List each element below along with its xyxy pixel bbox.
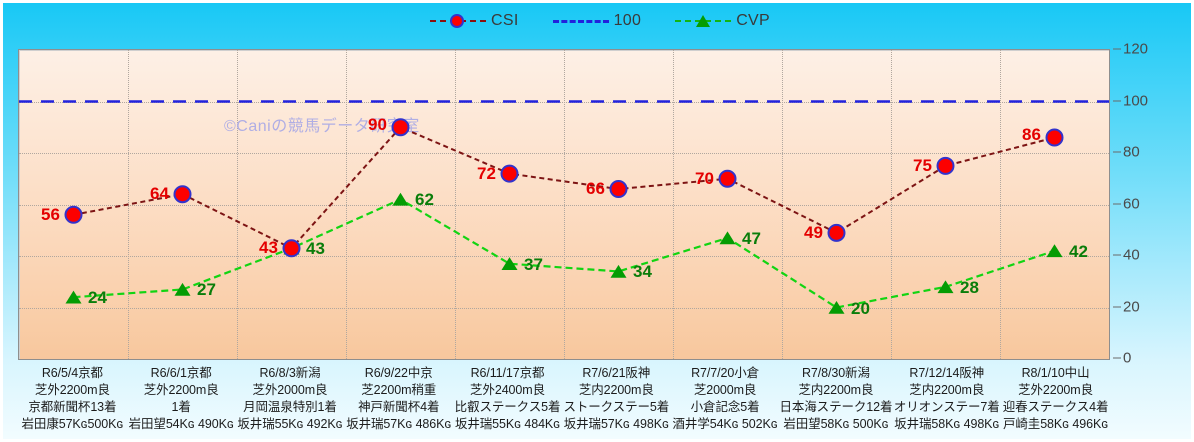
x-axis: R6/5/4京都芝外2200m良京都新聞杯13着岩田康57Kɢ500KɢR6/6… xyxy=(18,365,1110,441)
y-axis-tick-mark xyxy=(1113,358,1121,359)
x-axis-label-line: R6/8/3新潟 xyxy=(236,365,345,382)
y-axis-tick-mark xyxy=(1113,306,1121,307)
cvp-value-label: 24 xyxy=(88,288,107,308)
csi-value-label: 70 xyxy=(695,169,714,189)
legend-swatch-csi xyxy=(430,13,486,29)
x-axis-label-line: 芝2200m稍重 xyxy=(344,382,453,399)
x-axis-label-line: 京都新聞杯13着 xyxy=(18,399,127,416)
x-axis-label-line: R6/6/1京都 xyxy=(127,365,236,382)
x-axis-tick-label: R7/6/21阪神芝内2200m良ストークステー5着坂井瑞57Kɢ 498Kɢ xyxy=(562,365,671,441)
x-axis-label-line: 芝外2200m良 xyxy=(127,382,236,399)
csi-value-label: 90 xyxy=(368,115,387,135)
legend-label-100: 100 xyxy=(614,12,642,30)
x-axis-tick-label: R6/6/1京都芝外2200m良1着岩田望54Kɢ 490Kɢ xyxy=(127,365,236,441)
x-axis-label-line: 坂井瑞58Kɢ 498Kɢ xyxy=(892,416,1001,433)
cvp-value-label: 43 xyxy=(306,239,325,259)
legend-item-csi: CSI xyxy=(430,12,519,30)
x-axis-label-line: 坂井瑞57Kɢ 486Kɢ xyxy=(344,416,453,433)
y-axis-tick-label: 0 xyxy=(1123,350,1131,367)
cvp-value-label: 37 xyxy=(524,255,543,275)
csi-value-label: 49 xyxy=(804,223,823,243)
csi-value-label: 86 xyxy=(1022,125,1041,145)
cvp-value-label: 42 xyxy=(1069,242,1088,262)
cvp-line xyxy=(74,199,1055,307)
cvp-value-label: 34 xyxy=(633,262,652,282)
x-axis-label-line: R7/6/21阪神 xyxy=(562,365,671,382)
y-axis-tick-mark xyxy=(1113,100,1121,101)
x-axis-label-line: R7/8/30新潟 xyxy=(779,365,892,382)
x-axis-label-line: 芝外2200m良 xyxy=(18,382,127,399)
legend-swatch-cvp xyxy=(675,13,731,29)
x-axis-label-line: 岩田望54Kɢ 490Kɢ xyxy=(127,416,236,433)
x-axis-label-line: 酒井学54Kɢ 502Kɢ xyxy=(671,416,780,433)
legend-item-100: 100 xyxy=(553,12,642,30)
csi-marker xyxy=(720,171,736,187)
csi-value-label: 66 xyxy=(586,179,605,199)
x-axis-tick-label: R6/5/4京都芝外2200m良京都新聞杯13着岩田康57Kɢ500Kɢ xyxy=(18,365,127,441)
x-axis-label-line: 坂井瑞57Kɢ 498Kɢ xyxy=(562,416,671,433)
csi-marker xyxy=(829,225,845,241)
x-axis-label-line: 芝外2000m良 xyxy=(236,382,345,399)
csi-line xyxy=(74,127,1055,248)
x-axis-label-line: 芝内2200m良 xyxy=(779,382,892,399)
y-axis-tick-mark xyxy=(1113,152,1121,153)
y-axis: 020406080100120 xyxy=(1113,49,1173,360)
x-axis-label-line: 1着 xyxy=(127,399,236,416)
y-axis-tick-label: 120 xyxy=(1123,41,1148,58)
cvp-marker xyxy=(1047,244,1063,257)
csi-marker xyxy=(393,119,409,135)
x-axis-label-line: 神戸新聞杯4着 xyxy=(344,399,453,416)
csi-marker xyxy=(66,207,82,223)
x-axis-tick-label: R6/11/17京都芝外2400m良比叡ステークス5着坂井瑞55Kɢ 484Kɢ xyxy=(453,365,562,441)
x-axis-label-line: 坂井瑞55Kɢ 484Kɢ xyxy=(453,416,562,433)
x-axis-label-line: R8/1/10中山 xyxy=(1001,365,1110,382)
csi-marker xyxy=(284,240,300,256)
y-axis-tick-label: 20 xyxy=(1123,298,1140,315)
cvp-value-label: 20 xyxy=(851,299,870,319)
x-axis-label-line: 芝外2200m良 xyxy=(1001,382,1110,399)
csi-value-label: 64 xyxy=(150,184,169,204)
legend-swatch-100 xyxy=(553,13,609,29)
x-axis-label-line: R6/9/22中京 xyxy=(344,365,453,382)
csi-value-label: 56 xyxy=(41,205,60,225)
y-axis-tick-mark xyxy=(1113,255,1121,256)
x-axis-tick-label: R7/12/14阪神芝内2200m良オリオンステー7着坂井瑞58Kɢ 498Kɢ xyxy=(892,365,1001,441)
x-axis-label-line: R6/5/4京都 xyxy=(18,365,127,382)
chart-series-svg xyxy=(19,50,1109,359)
x-axis-label-line: 芝内2200m良 xyxy=(562,382,671,399)
legend-label-cvp: CVP xyxy=(736,12,770,30)
plot-area: ©Caniの競馬データ研究室 5664439072667049758624274… xyxy=(18,49,1110,360)
x-axis-label-line: 迎春ステークス4着 xyxy=(1001,399,1110,416)
cvp-marker xyxy=(393,193,409,206)
x-axis-tick-label: R7/7/20小倉芝2000m良小倉記念5着酒井学54Kɢ 502Kɢ xyxy=(671,365,780,441)
cvp-marker xyxy=(938,280,954,293)
y-axis-tick-label: 80 xyxy=(1123,144,1140,161)
y-axis-tick-mark xyxy=(1113,203,1121,204)
circle-marker-icon xyxy=(450,14,464,28)
x-axis-label-line: 日本海ステーク12着 xyxy=(779,399,892,416)
x-axis-tick-label: R7/8/30新潟芝内2200m良日本海ステーク12着岩田望58Kɢ 500Kɢ xyxy=(779,365,892,441)
x-axis-tick-label: R8/1/10中山芝外2200m良迎春ステークス4着戸崎圭58Kɢ 496Kɢ xyxy=(1001,365,1110,441)
cvp-value-label: 47 xyxy=(742,229,761,249)
dashed-line-icon xyxy=(553,20,609,23)
csi-marker xyxy=(1047,130,1063,146)
y-axis-tick-mark xyxy=(1113,49,1121,50)
csi-marker xyxy=(611,181,627,197)
x-axis-tick-label: R6/9/22中京芝2200m稍重神戸新聞杯4着坂井瑞57Kɢ 486Kɢ xyxy=(344,365,453,441)
chart-legend: CSI 100 CVP xyxy=(3,7,1194,35)
x-axis-label-line: ストークステー5着 xyxy=(562,399,671,416)
x-axis-label-line: R6/11/17京都 xyxy=(453,365,562,382)
y-axis-tick-label: 40 xyxy=(1123,247,1140,264)
csi-value-label: 43 xyxy=(259,238,278,258)
csi-marker xyxy=(175,186,191,202)
x-axis-label-line: R7/12/14阪神 xyxy=(892,365,1001,382)
x-axis-label-line: 坂井瑞55Kɢ 492Kɢ xyxy=(236,416,345,433)
x-axis-label-line: 月岡温泉特別1着 xyxy=(236,399,345,416)
cvp-value-label: 62 xyxy=(415,190,434,210)
x-axis-label-line: 岩田康57Kɢ500Kɢ xyxy=(18,416,127,433)
triangle-marker-icon xyxy=(696,15,710,27)
csi-marker xyxy=(502,166,518,182)
cvp-marker xyxy=(720,231,736,244)
csi-value-label: 72 xyxy=(477,164,496,184)
cvp-value-label: 27 xyxy=(197,280,216,300)
csi-marker xyxy=(938,158,954,174)
x-axis-label-line: 岩田望58Kɢ 500Kɢ xyxy=(779,416,892,433)
x-axis-label-line: 芝内2200m良 xyxy=(892,382,1001,399)
y-axis-tick-label: 100 xyxy=(1123,92,1148,109)
x-axis-label-line: 芝2000m良 xyxy=(671,382,780,399)
x-axis-label-line: 戸崎圭58Kɢ 496Kɢ xyxy=(1001,416,1110,433)
y-axis-tick-label: 60 xyxy=(1123,195,1140,212)
x-axis-label-line: オリオンステー7着 xyxy=(892,399,1001,416)
x-axis-label-line: 芝外2400m良 xyxy=(453,382,562,399)
csi-value-label: 75 xyxy=(913,156,932,176)
cvp-value-label: 28 xyxy=(960,278,979,298)
legend-label-csi: CSI xyxy=(491,12,519,30)
x-axis-tick-label: R6/8/3新潟芝外2000m良月岡温泉特別1着坂井瑞55Kɢ 492Kɢ xyxy=(236,365,345,441)
x-axis-label-line: 比叡ステークス5着 xyxy=(453,399,562,416)
legend-item-cvp: CVP xyxy=(675,12,770,30)
x-axis-label-line: R7/7/20小倉 xyxy=(671,365,780,382)
x-axis-label-line: 小倉記念5着 xyxy=(671,399,780,416)
chart-root: CSI 100 CVP ©Caniの競馬データ研究室 5664439072667… xyxy=(0,0,1194,442)
